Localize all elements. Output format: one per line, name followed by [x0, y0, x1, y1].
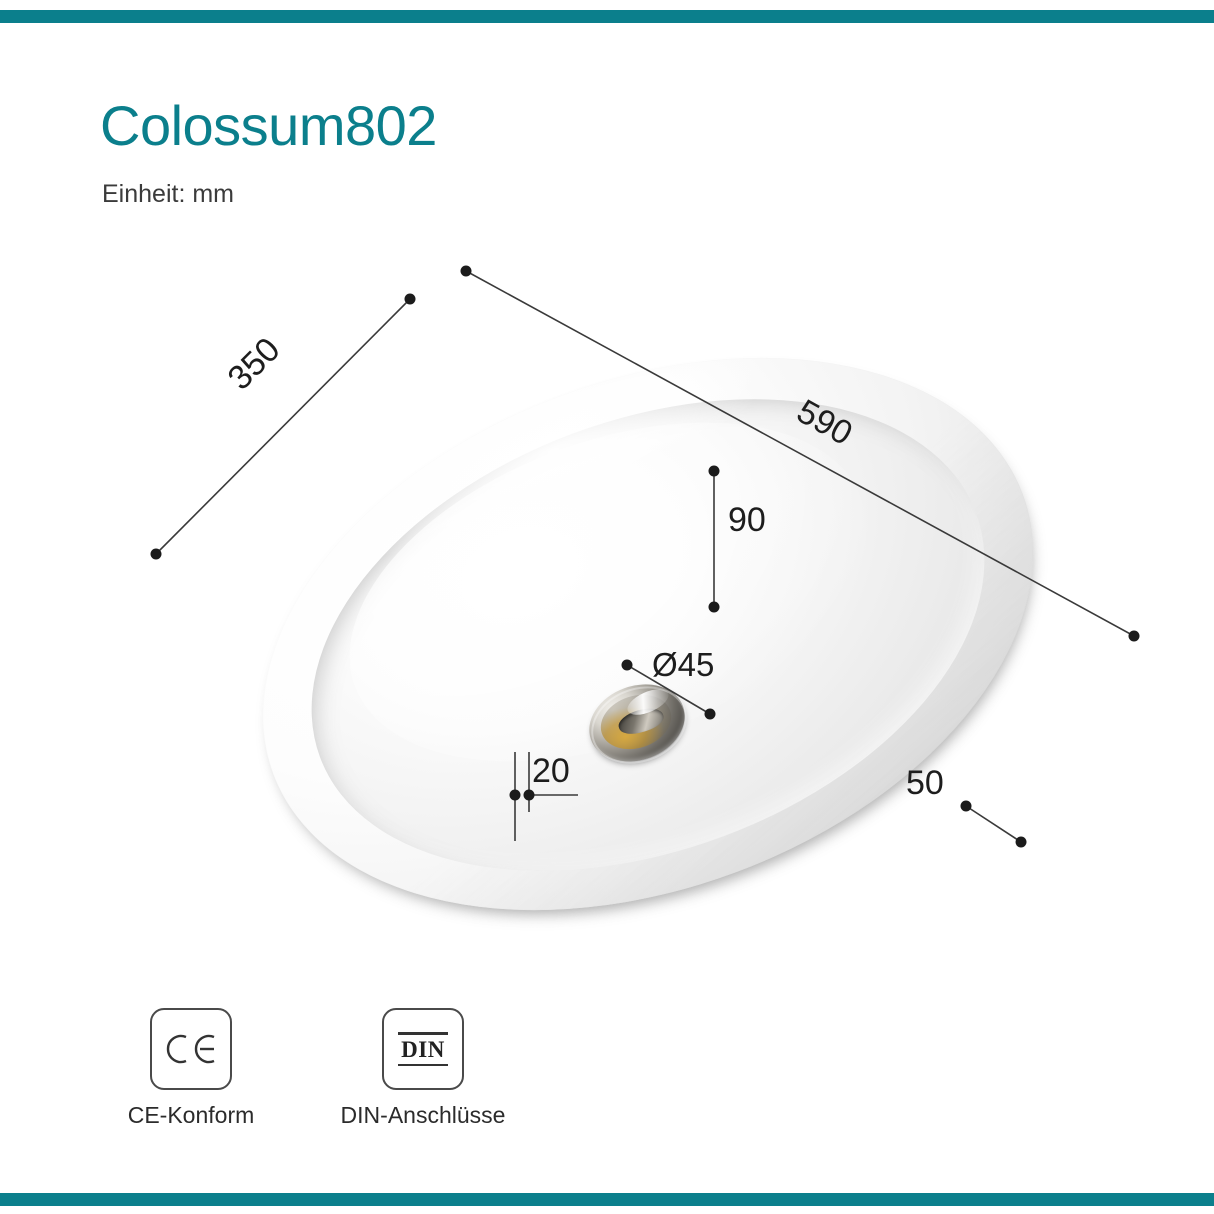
dimension-endpoint-45-b — [705, 709, 716, 720]
dimension-label-diameter-45: Ø45 — [652, 648, 714, 681]
badge-ce: CE-Konform — [150, 1008, 232, 1090]
dimension-endpoint-350-b — [405, 294, 416, 305]
dimension-line-50 — [966, 806, 1021, 842]
din-mark-icon: DIN — [382, 1008, 464, 1090]
dimension-endpoint-50-a — [961, 801, 972, 812]
din-rule-top — [398, 1032, 448, 1035]
dimension-endpoint-90-b — [709, 602, 720, 613]
badge-ce-caption: CE-Konform — [128, 1102, 255, 1129]
din-text: DIN — [401, 1038, 445, 1061]
dimension-line-350 — [156, 299, 410, 554]
dimension-endpoint-20-a — [510, 790, 521, 801]
dimension-line-590 — [466, 271, 1134, 636]
dimension-endpoint-20-b — [524, 790, 535, 801]
dimension-label-20: 20 — [532, 754, 570, 788]
din-rule-bottom — [398, 1064, 448, 1067]
dimension-endpoint-45-a — [622, 660, 633, 671]
ce-glyph-icon — [164, 1030, 218, 1068]
dimension-endpoint-590-a — [461, 266, 472, 277]
ce-mark-icon — [150, 1008, 232, 1090]
dimension-endpoint-350-a — [151, 549, 162, 560]
dimension-label-50: 50 — [906, 766, 944, 800]
dimension-label-90: 90 — [728, 503, 766, 537]
dimension-endpoint-90-a — [709, 466, 720, 477]
badge-din: DIN DIN-Anschlüsse — [382, 1008, 464, 1090]
badge-din-caption: DIN-Anschlüsse — [341, 1102, 506, 1129]
dimension-endpoint-590-b — [1129, 631, 1140, 642]
dimension-endpoint-50-b — [1016, 837, 1027, 848]
din-glyph-icon: DIN — [398, 1032, 448, 1066]
